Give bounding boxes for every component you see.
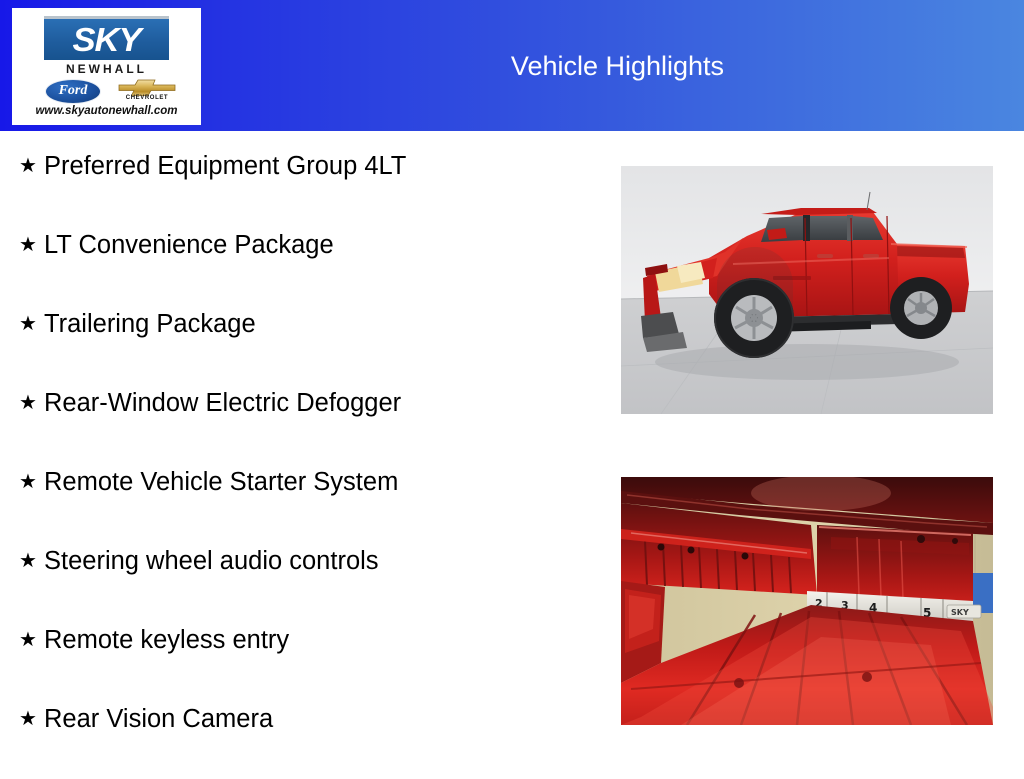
chevrolet-logo-icon: CHEVROLET [112, 77, 182, 107]
vehicle-photo-bed: 2 3 4 5 SKY [621, 477, 993, 725]
ford-wordmark: Ford [46, 80, 100, 102]
svg-text:SKY: SKY [951, 608, 969, 617]
dealer-website-url: www.skyautonewhall.com [19, 105, 194, 117]
highlight-label: Trailering Package [44, 305, 256, 343]
list-item: ★ Preferred Equipment Group 4LT [0, 147, 600, 226]
page-title: Vehicle Highlights [260, 50, 975, 82]
highlight-label: Remote keyless entry [44, 621, 289, 659]
chevrolet-wordmark: CHEVROLET [112, 95, 182, 101]
star-bullet-icon: ★ [12, 700, 44, 738]
list-item: ★ LT Convenience Package [0, 226, 600, 305]
star-bullet-icon: ★ [12, 621, 44, 659]
star-bullet-icon: ★ [12, 463, 44, 501]
sky-brand-text: SKY [44, 19, 169, 60]
list-item: ★ Remote keyless entry [0, 621, 600, 700]
dealer-logo: SKY NEWHALL Ford [12, 8, 201, 125]
sky-brand-box: SKY [44, 16, 169, 60]
star-bullet-icon: ★ [12, 226, 44, 264]
highlight-label: LT Convenience Package [44, 226, 334, 264]
vehicle-highlights-list: ★ Preferred Equipment Group 4LT ★ LT Con… [0, 147, 600, 779]
highlight-label: Preferred Equipment Group 4LT [44, 147, 406, 185]
star-bullet-icon: ★ [12, 384, 44, 422]
ford-logo-icon: Ford [45, 79, 101, 104]
list-item: ★ Steering wheel audio controls [0, 542, 600, 621]
list-item: ★ Trailering Package [0, 305, 600, 384]
highlight-label: Steering wheel audio controls [44, 542, 379, 580]
dealer-logo-inner: SKY NEWHALL Ford [19, 13, 194, 120]
list-item: ★ Remote Vehicle Starter System [0, 463, 600, 542]
highlight-label: Remote Vehicle Starter System [44, 463, 398, 501]
chevrolet-bowtie-icon [118, 79, 176, 96]
star-bullet-icon: ★ [12, 542, 44, 580]
highlight-label: Rear Vision Camera [44, 700, 273, 738]
dealer-location-text: NEWHALL [19, 62, 194, 76]
list-item: ★ Rear Vision Camera [0, 700, 600, 779]
list-item: ★ Rear-Window Electric Defogger [0, 384, 600, 463]
vehicle-photo-exterior [621, 166, 993, 414]
star-bullet-icon: ★ [12, 147, 44, 185]
star-bullet-icon: ★ [12, 305, 44, 343]
highlight-label: Rear-Window Electric Defogger [44, 384, 401, 422]
